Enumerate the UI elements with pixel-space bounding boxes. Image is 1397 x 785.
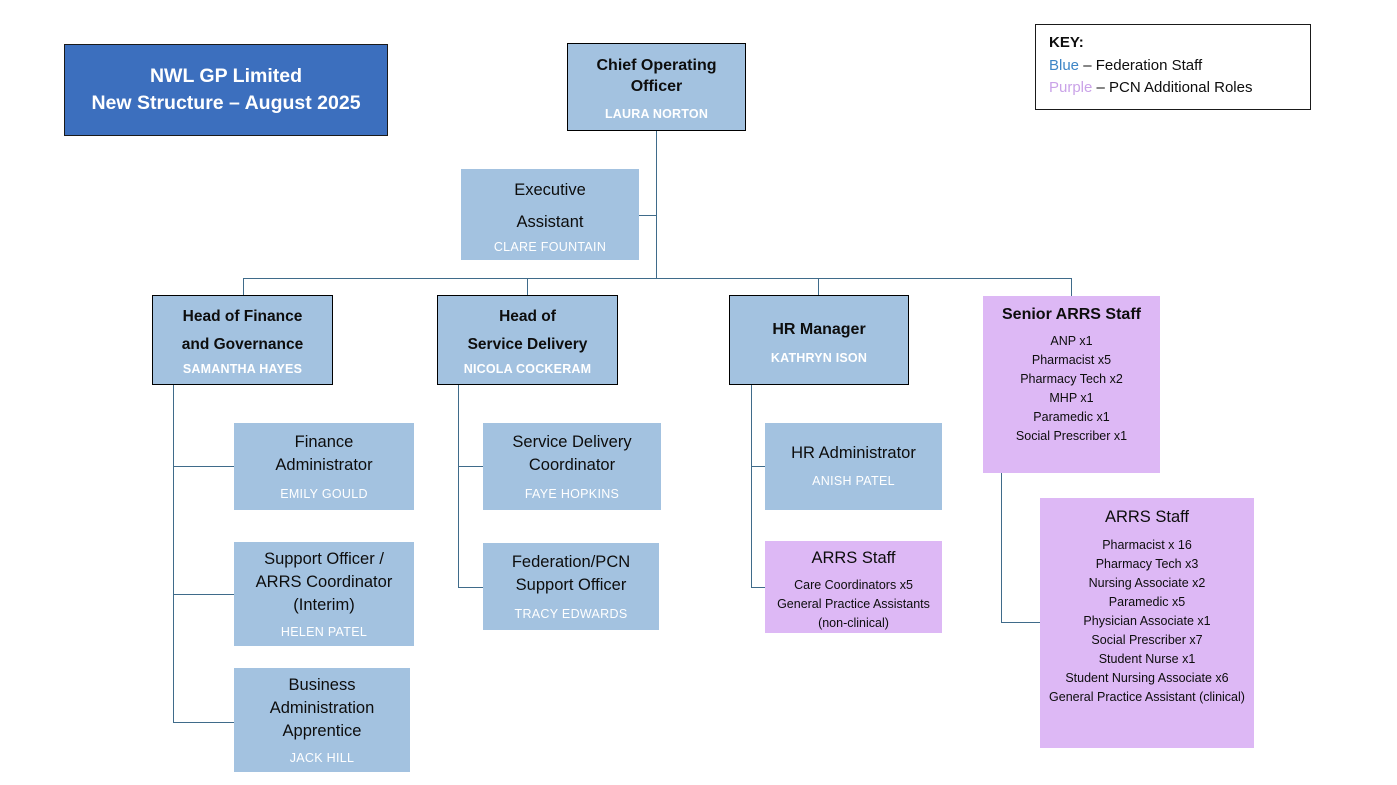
node-executive-assistant[interactable]: Executive Assistant CLARE FOUNTAIN [461, 169, 639, 260]
chart-title-text: NWL GP Limited New Structure – August 20… [91, 63, 360, 117]
node-hr-manager[interactable]: HR Manager KATHRYN ISON [729, 295, 909, 385]
node-person-fed-pcn-support: TRACY EDWARDS [515, 606, 628, 622]
node-chief-operating-officer[interactable]: Chief Operating Officer LAURA NORTON [567, 43, 746, 131]
arrs-main-role-item: Nursing Associate x2 [1040, 574, 1254, 593]
connector-service-coord [458, 466, 483, 467]
connector-drop-head-service [527, 278, 528, 296]
arrs-main-role-item: Student Nurse x1 [1040, 650, 1254, 669]
node-arrs-staff-hr[interactable]: ARRS Staff Care Coordinators x5 General … [765, 541, 942, 633]
node-person-service-coord: FAYE HOPKINS [525, 486, 619, 502]
node-senior-arrs-staff[interactable]: Senior ARRS Staff ANP x1 Pharmacist x5 P… [983, 296, 1160, 473]
node-title-head-finance: Head of Finance and Governance [182, 303, 303, 359]
connector-main-bus [243, 278, 1072, 279]
senior-arrs-role-list: ANP x1 Pharmacist x5 Pharmacy Tech x2 MH… [983, 332, 1160, 446]
legend-row-purple: Purple – PCN Additional Roles [1049, 77, 1310, 100]
legend-meaning-purple: PCN Additional Roles [1109, 79, 1252, 96]
connector-senior-arrs-trunk [1001, 473, 1002, 623]
chart-title-box: NWL GP Limited New Structure – August 20… [64, 44, 388, 136]
legend-separator-purple: – [1092, 79, 1109, 96]
node-person-business-apprentice: JACK HILL [290, 750, 355, 766]
node-title-service-coord: Service Delivery Coordinator [512, 431, 631, 478]
connector-service-trunk [458, 385, 459, 587]
arrs-hr-role-item: Care Coordinators x5 [765, 576, 942, 595]
legend-swatch-purple-label: Purple [1049, 79, 1092, 96]
node-head-of-finance-and-governance[interactable]: Head of Finance and Governance SAMANTHA … [152, 295, 333, 385]
senior-arrs-role-item: ANP x1 [983, 332, 1160, 351]
arrs-main-role-item: Paramedic x5 [1040, 593, 1254, 612]
node-title-fed-pcn-support: Federation/PCN Support Officer [512, 551, 630, 598]
legend-title: KEY: [1049, 32, 1310, 55]
node-federation-pcn-support-officer[interactable]: Federation/PCN Support Officer TRACY EDW… [483, 543, 659, 630]
node-support-officer-arrs-coordinator[interactable]: Support Officer / ARRS Coordinator (Inte… [234, 542, 414, 646]
connector-hr-trunk [751, 385, 752, 587]
node-person-head-finance: SAMANTHA HAYES [183, 361, 302, 377]
arrs-main-role-item: Social Prescriber x7 [1040, 631, 1254, 650]
legend-key-box: KEY: Blue – Federation Staff Purple – PC… [1035, 24, 1311, 110]
senior-arrs-role-item: MHP x1 [983, 389, 1160, 408]
node-business-administration-apprentice[interactable]: Business Administration Apprentice JACK … [234, 668, 410, 772]
arrs-hr-role-list: Care Coordinators x5 General Practice As… [765, 576, 942, 633]
node-title-senior-arrs: Senior ARRS Staff [1002, 305, 1141, 326]
node-person-coo: LAURA NORTON [605, 106, 708, 122]
arrs-main-role-item: Pharmacy Tech x3 [1040, 555, 1254, 574]
connector-fed-pcn-support [458, 587, 483, 588]
node-person-hr-admin: ANISH PATEL [812, 473, 895, 489]
connector-drop-head-finance [243, 278, 244, 296]
legend-swatch-blue-label: Blue [1049, 57, 1079, 74]
connector-arrs-hr [751, 587, 765, 588]
senior-arrs-role-item: Social Prescriber x1 [983, 427, 1160, 446]
legend-row-blue: Blue – Federation Staff [1049, 55, 1310, 78]
senior-arrs-role-item: Pharmacist x5 [983, 351, 1160, 370]
arrs-hr-role-item: (non-clinical) [765, 614, 942, 633]
connector-hr-admin [751, 466, 765, 467]
connector-finance-trunk [173, 385, 174, 722]
node-hr-administrator[interactable]: HR Administrator ANISH PATEL [765, 423, 942, 510]
arrs-main-role-item: Pharmacist x 16 [1040, 536, 1254, 555]
node-person-hr-manager: KATHRYN ISON [771, 350, 867, 366]
senior-arrs-role-item: Paramedic x1 [983, 408, 1160, 427]
legend-separator-blue: – [1079, 57, 1096, 74]
node-title-business-apprentice: Business Administration Apprentice [270, 674, 375, 743]
node-title-support-officer: Support Officer / ARRS Coordinator (Inte… [256, 548, 393, 617]
connector-drop-hr-manager [818, 278, 819, 296]
node-title-arrs-hr: ARRS Staff [811, 548, 895, 569]
arrs-main-role-item: Student Nursing Associate x6 [1040, 669, 1254, 688]
node-person-exec-assistant: CLARE FOUNTAIN [494, 239, 606, 255]
node-title-hr-admin: HR Administrator [791, 443, 916, 465]
legend-meaning-blue: Federation Staff [1096, 57, 1202, 74]
arrs-main-role-list: Pharmacist x 16 Pharmacy Tech x3 Nursing… [1040, 536, 1254, 707]
connector-drop-senior-arrs [1071, 278, 1072, 296]
node-arrs-staff-main[interactable]: ARRS Staff Pharmacist x 16 Pharmacy Tech… [1040, 498, 1254, 748]
connector-arrs-main [1001, 622, 1040, 623]
node-title-arrs-main: ARRS Staff [1105, 507, 1189, 528]
connector-coo-trunk [656, 131, 657, 278]
connector-business-app [173, 722, 234, 723]
node-finance-administrator[interactable]: Finance Administrator EMILY GOULD [234, 423, 414, 510]
node-title-finance-admin: Finance Administrator [275, 431, 372, 478]
org-chart-canvas: NWL GP Limited New Structure – August 20… [0, 0, 1397, 785]
node-person-support-officer: HELEN PATEL [281, 624, 367, 640]
connector-finance-admin [173, 466, 234, 467]
connector-exec-assistant [638, 215, 657, 216]
node-person-finance-admin: EMILY GOULD [280, 486, 368, 502]
connector-support-officer [173, 594, 234, 595]
arrs-main-role-item: Physician Associate x1 [1040, 612, 1254, 631]
node-person-head-service: NICOLA COCKERAM [464, 361, 592, 377]
arrs-main-role-item: General Practice Assistant (clinical) [1040, 688, 1254, 707]
senior-arrs-role-item: Pharmacy Tech x2 [983, 370, 1160, 389]
arrs-hr-role-item: General Practice Assistants [765, 595, 942, 614]
node-title-coo: Chief Operating Officer [596, 55, 716, 97]
node-title-hr-manager: HR Manager [772, 319, 865, 340]
node-title-exec-assistant: Executive Assistant [514, 174, 586, 238]
node-head-of-service-delivery[interactable]: Head of Service Delivery NICOLA COCKERAM [437, 295, 618, 385]
node-title-head-service: Head of Service Delivery [468, 303, 588, 359]
node-service-delivery-coordinator[interactable]: Service Delivery Coordinator FAYE HOPKIN… [483, 423, 661, 510]
